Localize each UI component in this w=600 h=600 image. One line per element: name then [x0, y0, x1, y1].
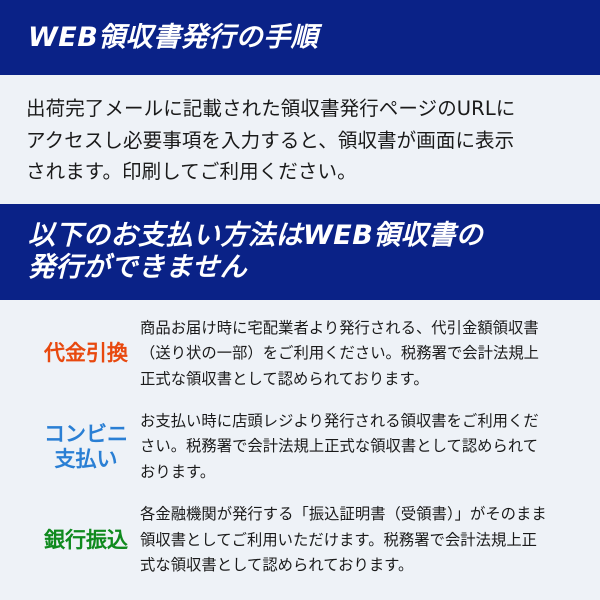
notice-banner: 以下のお支払い方法はWEB領収書の 発行ができません	[0, 204, 600, 300]
intro-paragraph: 出荷完了メールに記載された領収書発行ページのURLに アクセスし必要事項を入力す…	[26, 93, 574, 188]
intro-section: 出荷完了メールに記載された領収書発行ページのURLに アクセスし必要事項を入力す…	[0, 75, 600, 204]
payment-method-description-konbini: お支払い時に店頭レジより発行される領収書をご利用くだ さい。税務署で会計法規上正…	[140, 409, 586, 486]
payment-method-label-cell: コンビニ 支払い	[0, 422, 140, 473]
payment-method-row-cod: 代金引換 商品お届け時に宅配業者より発行される、代引金額領収書 （送り状の一部）…	[0, 316, 600, 393]
payment-methods-list: 代金引換 商品お届け時に宅配業者より発行される、代引金額領収書 （送り状の一部）…	[0, 300, 600, 579]
payment-method-label-konbini: コンビニ 支払い	[44, 422, 128, 473]
payment-method-label-cell: 代金引換	[0, 341, 140, 367]
payment-method-description-cod: 商品お届け時に宅配業者より発行される、代引金額領収書 （送り状の一部）をご利用く…	[140, 316, 586, 393]
receipt-info-page: WEB領収書発行の手順 出荷完了メールに記載された領収書発行ページのURLに ア…	[0, 0, 600, 600]
payment-method-row-bank: 銀行振込 各金融機関が発行する「振込証明書（受領書）」がそのまま 領収書としてご…	[0, 502, 600, 579]
payment-method-label-cod: 代金引換	[44, 341, 128, 367]
page-title: WEB領収書発行の手順	[28, 22, 318, 54]
payment-method-label-cell: 銀行振込	[0, 528, 140, 554]
payment-method-label-bank: 銀行振込	[44, 528, 128, 554]
header-banner: WEB領収書発行の手順	[0, 0, 600, 75]
notice-title: 以下のお支払い方法はWEB領収書の 発行ができません	[28, 220, 483, 284]
payment-method-description-bank: 各金融機関が発行する「振込証明書（受領書）」がそのまま 領収書としてご利用いただ…	[140, 502, 586, 579]
payment-method-row-konbini: コンビニ 支払い お支払い時に店頭レジより発行される領収書をご利用くだ さい。税…	[0, 409, 600, 486]
